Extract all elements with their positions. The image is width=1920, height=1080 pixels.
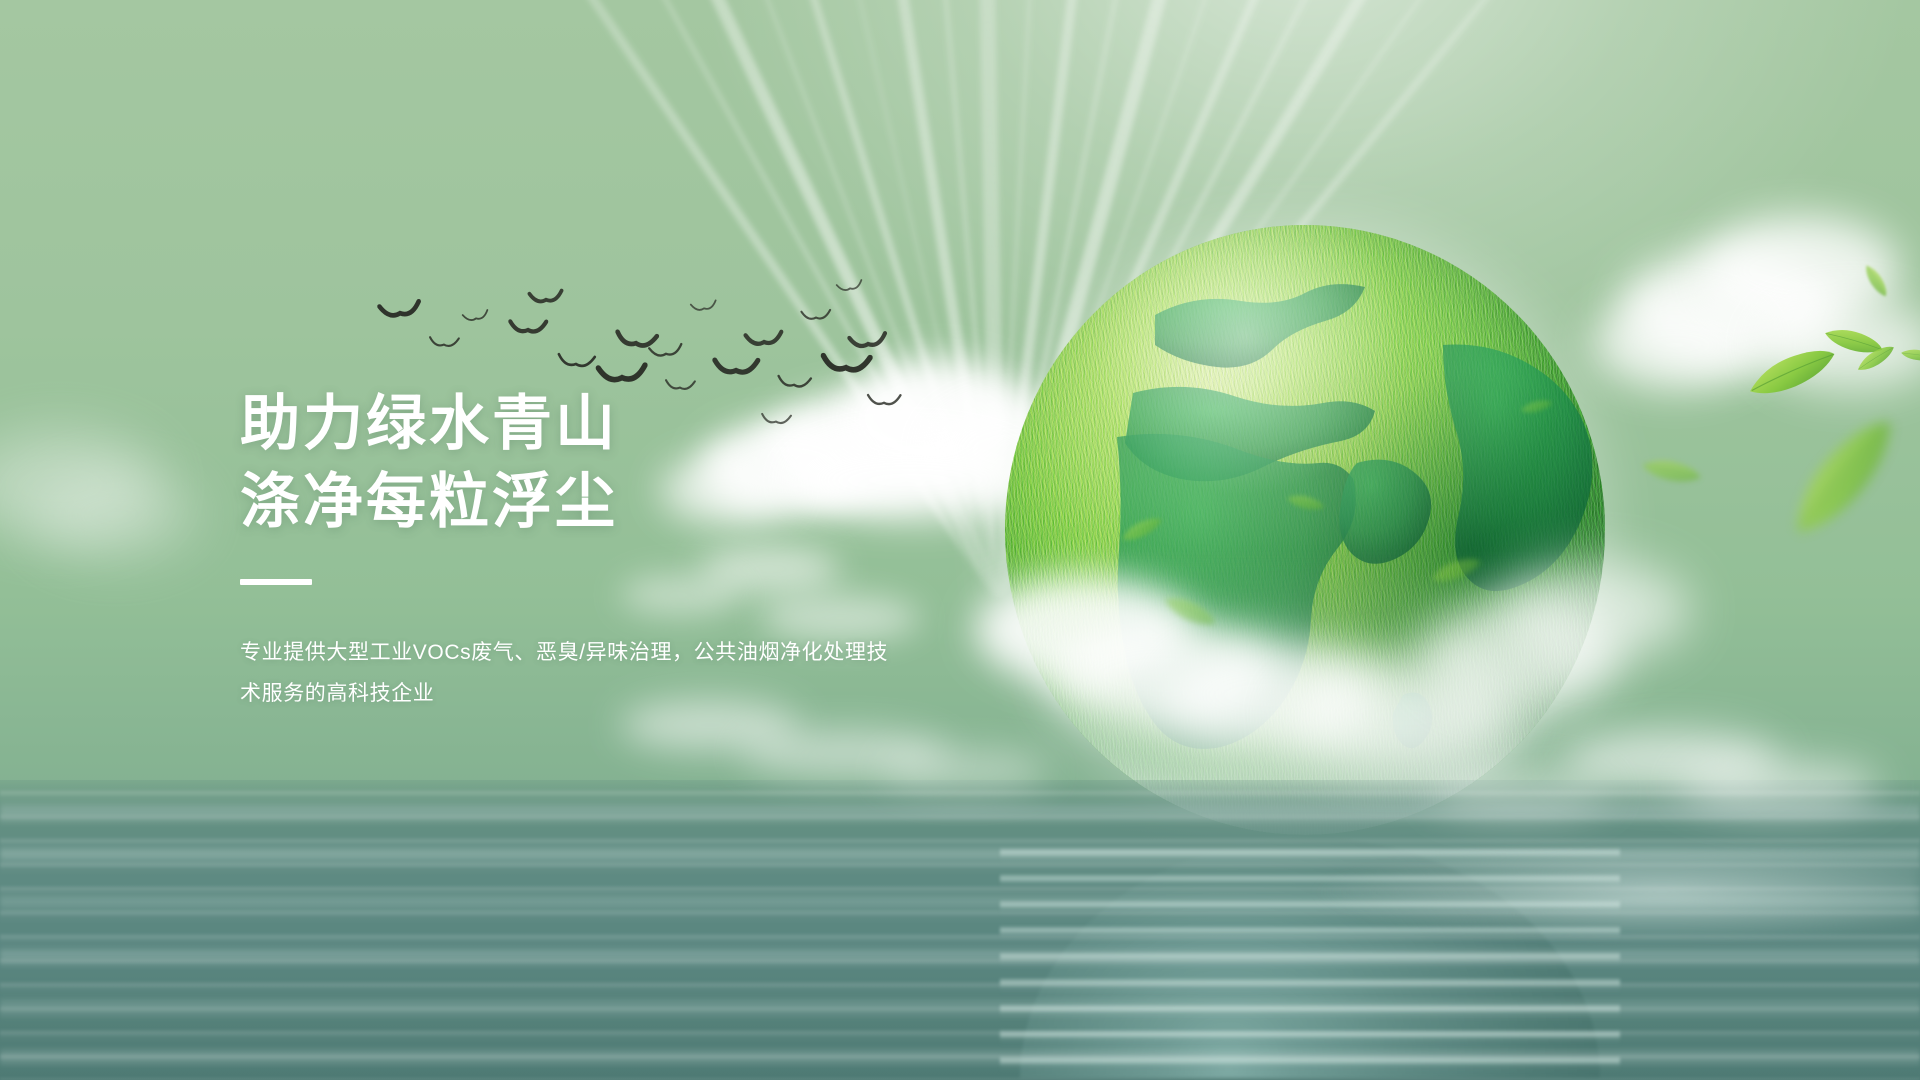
bird-icon xyxy=(527,288,564,311)
bird-icon xyxy=(847,330,889,357)
hero-copy: 助力绿水青山 涤净每粒浮尘 专业提供大型工业VOCs废气、恶臭/异味治理，公共油… xyxy=(240,385,940,715)
cloud-puff xyxy=(1590,300,1760,390)
bird-icon xyxy=(800,307,833,326)
bird-icon xyxy=(427,334,460,355)
cloud-puff xyxy=(1430,770,1610,814)
headline-line-1: 助力绿水青山 xyxy=(240,385,940,463)
hero-banner: 助力绿水青山 涤净每粒浮尘 专业提供大型工业VOCs废气、恶臭/异味治理，公共油… xyxy=(0,0,1920,1080)
headline-line-2: 涤净每粒浮尘 xyxy=(240,463,940,541)
bird-icon xyxy=(377,298,423,328)
bird-icon xyxy=(743,329,785,355)
bird-icon xyxy=(647,341,685,365)
cloud-puff xyxy=(1680,760,1880,810)
cloud-puff xyxy=(880,750,1050,790)
bird-icon xyxy=(712,355,761,384)
bird-icon xyxy=(508,317,549,341)
water-glint xyxy=(1060,820,1920,1000)
accent-divider xyxy=(240,579,312,585)
hero-subtitle: 专业提供大型工业VOCs废气、恶臭/异味治理，公共油烟净化处理技术服务的高科技企… xyxy=(240,633,900,715)
page-title: 助力绿水青山 涤净每粒浮尘 xyxy=(240,385,940,541)
bird-icon xyxy=(555,350,597,377)
cloud-puff xyxy=(1500,560,1690,660)
cloud-puff xyxy=(30,470,200,560)
